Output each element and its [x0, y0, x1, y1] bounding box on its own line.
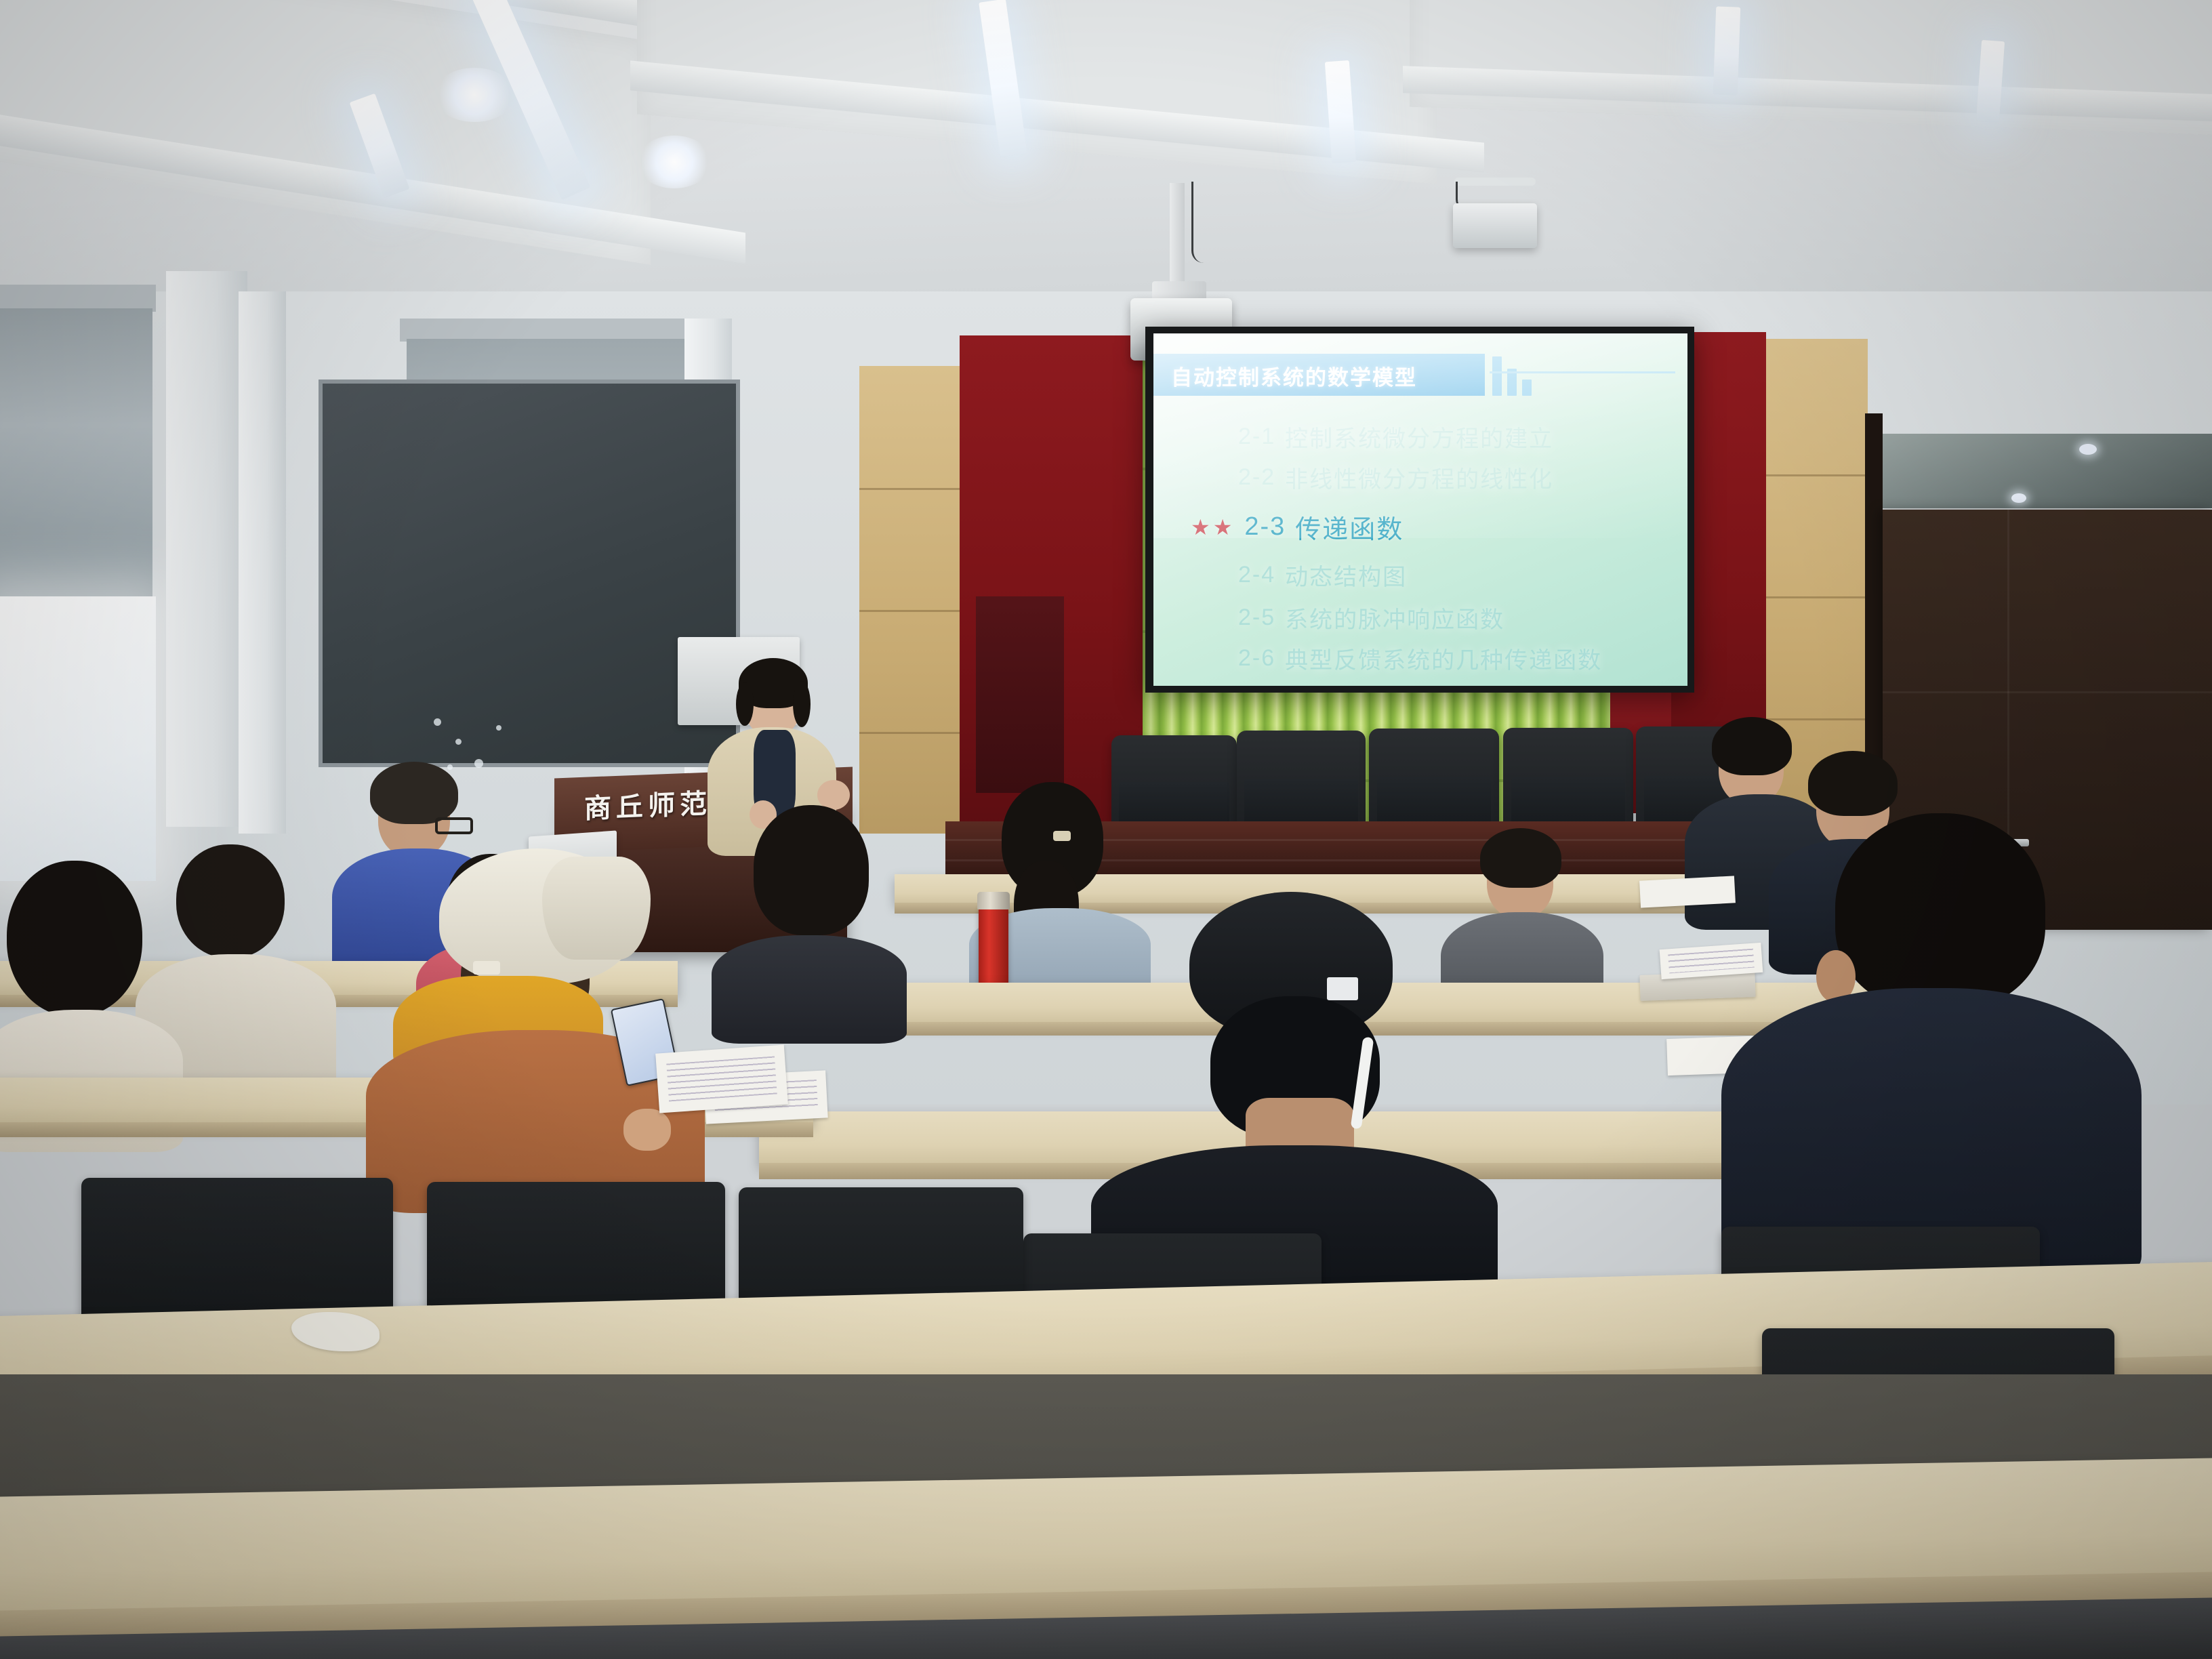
doorway-dark: [976, 596, 1064, 793]
hair: [176, 844, 285, 958]
window-frame: [400, 319, 684, 342]
wall-speaker: [1453, 203, 1537, 248]
stage-chair: [1237, 731, 1366, 836]
thermos-cap: [977, 892, 1010, 909]
slide-outline-item: 2-4 动态结构图: [1238, 558, 1407, 592]
ceiling-light-strip: [1713, 6, 1741, 95]
hair: [1835, 813, 2045, 1010]
window-frame: [0, 285, 156, 312]
slide-outline-item: 2-2 非线性微分方程的线性化: [1238, 461, 1553, 494]
window-blind: [0, 308, 152, 600]
cap-strap: [473, 961, 500, 975]
outline-number: 2-1: [1238, 424, 1275, 450]
outline-label: 传递函数: [1295, 508, 1404, 546]
slide-outline-list: 2-1 控制系统微分方程的建立 2-2 非线性微分方程的线性化 ★★ 2-3 传…: [1153, 408, 1687, 686]
torso: [712, 935, 907, 1044]
cap-brim: [542, 857, 651, 960]
chalk-mark: [455, 739, 462, 745]
door-transom-window: [1883, 434, 2212, 508]
star-marker: ★★: [1191, 514, 1235, 540]
wall-column: [166, 271, 247, 827]
slide-title-rule: [1490, 371, 1675, 373]
wall-panel-seam: [1766, 596, 1868, 598]
slide-outline-item: 2-6 典型反馈系统的几种传递函数: [1238, 642, 1602, 675]
slide-outline-item: 2-1 控制系统微分方程的建立: [1238, 420, 1553, 453]
outline-label: 典型反馈系统的几种传递函数: [1285, 642, 1602, 675]
projector-cable: [1191, 182, 1218, 263]
outline-label: 系统的脉冲响应函数: [1285, 601, 1504, 634]
wall-panel-seam: [859, 610, 960, 612]
outline-label: 非线性微分方程的线性化: [1285, 461, 1553, 494]
hair: [370, 762, 458, 824]
handout-papers: [655, 1044, 788, 1113]
stage-chair: [1503, 728, 1633, 835]
cap-logo: [1327, 977, 1358, 1000]
ceiling-downlight: [434, 68, 515, 122]
projector-mount-bracket: [1152, 281, 1206, 300]
wall-panel-seam: [859, 732, 960, 734]
window-glass: [0, 596, 156, 881]
chalk-mark: [434, 718, 441, 726]
slide-title: 自动控制系统的数学模型: [1171, 361, 1417, 391]
stage-chair: [1369, 729, 1499, 835]
lecture-hall-photo: 自动控制系统的数学模型 2-1 控制系统微分方程的建立 2-2 非线性微分方程的…: [0, 0, 2212, 1659]
slide-outline-item: 2-5 系统的脉冲响应函数: [1238, 601, 1504, 634]
outline-number: 2-5: [1238, 605, 1275, 631]
outline-label: 动态结构图: [1285, 558, 1407, 592]
transom-light-reflection: [2011, 493, 2026, 503]
outline-label: 控制系统微分方程的建立: [1285, 420, 1553, 453]
wall-column: [239, 291, 286, 834]
attendee-navy-front-right: [1721, 806, 2142, 1281]
chalk-mark: [496, 725, 501, 731]
transom-light-reflection: [2079, 444, 2097, 455]
presenter-hair-side: [793, 681, 811, 727]
wall-panel-seam: [1766, 474, 1868, 476]
hair-clip: [1053, 831, 1071, 841]
hair: [754, 805, 869, 935]
presenter-hair-side: [736, 682, 754, 726]
attendee-dark-center: [712, 800, 908, 1037]
outline-number: 2-3: [1244, 512, 1286, 541]
outline-number: 2-6: [1238, 645, 1275, 672]
projection-screen[interactable]: 自动控制系统的数学模型 2-1 控制系统微分方程的建立 2-2 非线性微分方程的…: [1153, 333, 1687, 686]
wall-panel-tan: [859, 366, 960, 834]
hand: [623, 1109, 671, 1151]
door-panel-line: [1883, 691, 2212, 693]
slide-outline-item-highlighted: ★★ 2-3 传递函数: [1191, 508, 1404, 546]
projector-mount-pole: [1170, 183, 1185, 285]
ceiling-downlight: [637, 136, 712, 188]
hair: [7, 861, 142, 1017]
chalkboard: [319, 380, 740, 767]
glasses: [435, 817, 473, 834]
outline-number: 2-2: [1238, 464, 1275, 491]
wall-panel-seam: [859, 488, 960, 490]
outline-number: 2-4: [1238, 562, 1275, 588]
